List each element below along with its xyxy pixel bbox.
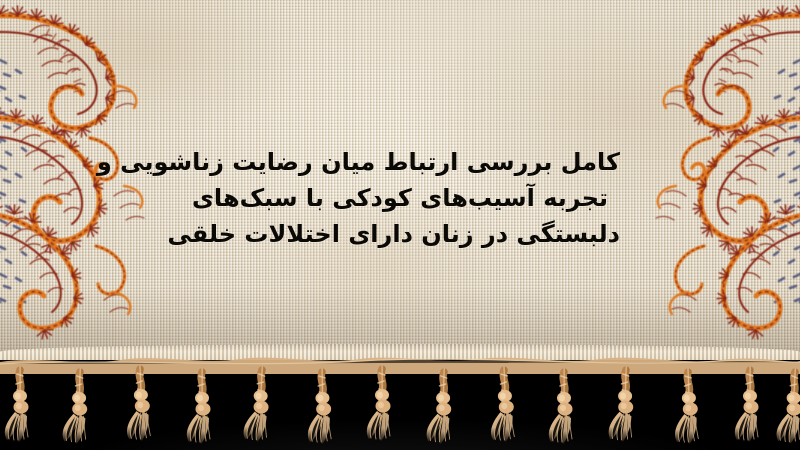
title-block: کامل بررسی ارتباط میان رضایت زناشویی و ت… [180, 144, 620, 252]
tassel-row [5, 369, 800, 445]
tassel-fringe [0, 352, 800, 450]
title-line-1: کامل بررسی ارتباط میان رضایت زناشویی و [180, 144, 620, 180]
title-line-2: تجربه آسیب‌های کودکی با سبک‌های [180, 180, 620, 216]
title-card: کامل بررسی ارتباط میان رضایت زناشویی و ت… [0, 0, 800, 450]
title-line-3: دلبستگی در زنان دارای اختلالات خلقی [180, 216, 620, 252]
